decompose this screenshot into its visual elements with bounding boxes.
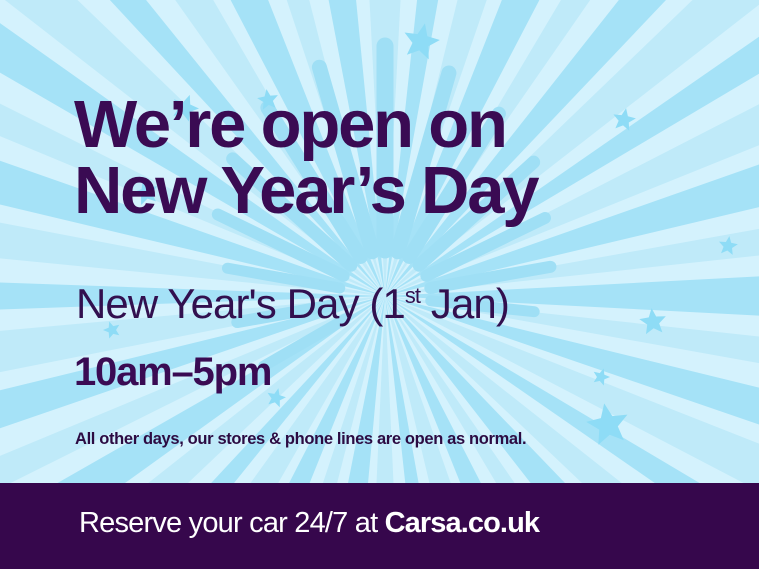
footer-cta-prefix: Reserve your car 24/7 at bbox=[79, 507, 385, 539]
ordinal-suffix: st bbox=[405, 283, 420, 308]
footer-cta-text: Reserve your car 24/7 at Carsa.co.uk bbox=[79, 507, 539, 540]
promotional-banner: We’re open on New Year’s Day New Year's … bbox=[0, 0, 759, 569]
date-line: New Year's Day (1st Jan) bbox=[76, 283, 509, 325]
opening-hours: 10am–5pm bbox=[74, 352, 271, 392]
date-line-suffix: Jan) bbox=[420, 280, 509, 327]
brand-name[interactable]: Carsa.co.uk bbox=[385, 507, 540, 539]
footer-cta-bar: Reserve your car 24/7 at Carsa.co.uk bbox=[0, 483, 759, 569]
page-title: We’re open on New Year’s Day bbox=[74, 92, 714, 225]
disclaimer-text: All other days, our stores & phone lines… bbox=[75, 430, 526, 449]
date-line-prefix: New Year's Day (1 bbox=[76, 280, 405, 327]
